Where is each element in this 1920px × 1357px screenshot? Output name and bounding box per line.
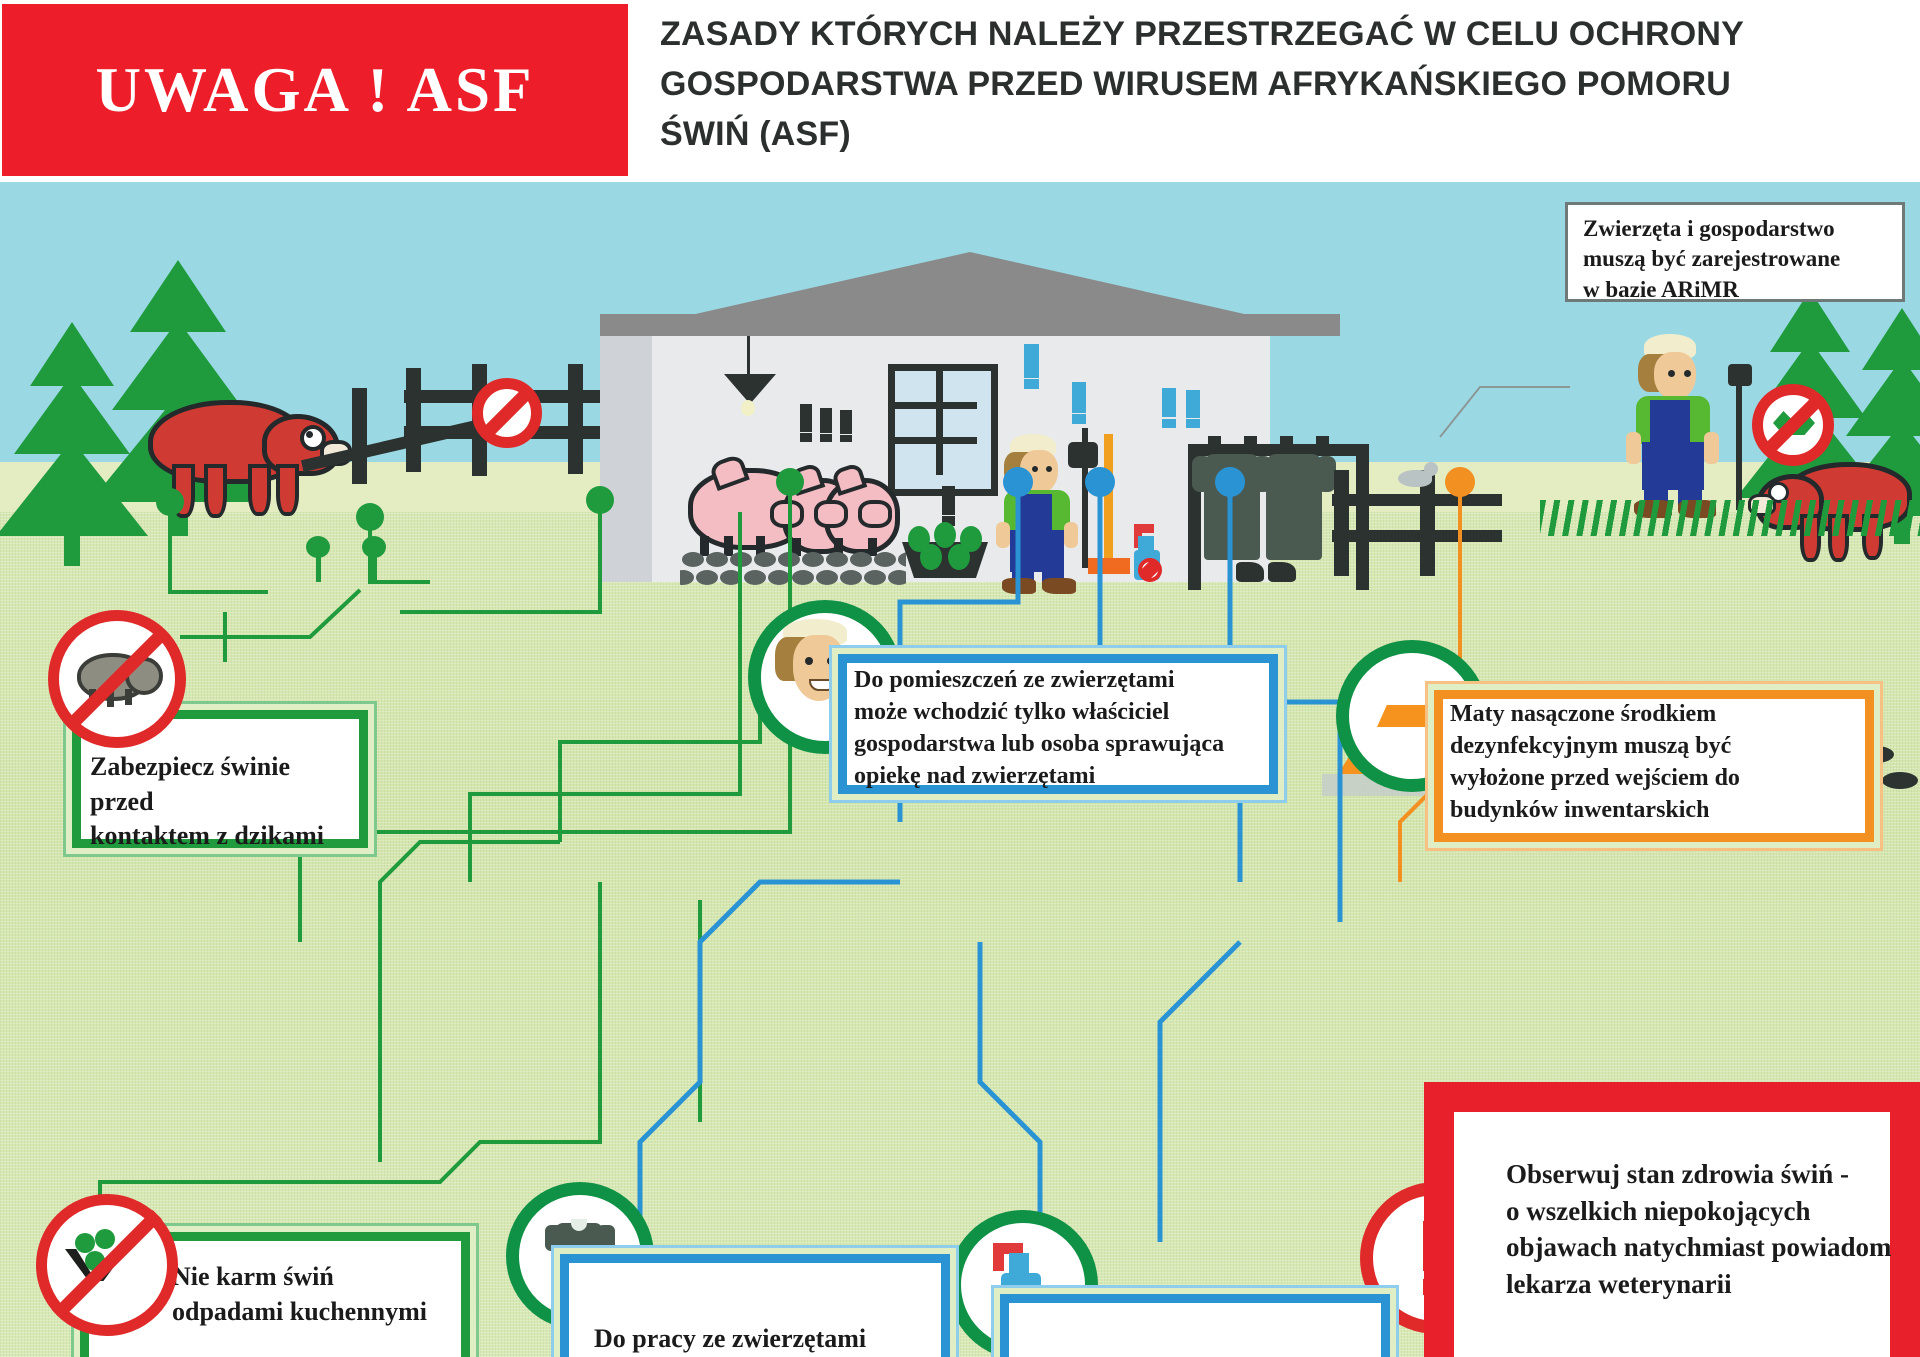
callout-line: kontaktem z dzikami <box>90 819 356 854</box>
callout-text: Zwierzęta i gospodarstwo muszą być zarej… <box>1583 214 1895 305</box>
callout-line: objawach natychmiast powiadom <box>1506 1229 1900 1266</box>
callout-text: Zabezpiecz świnie przed kontaktem z dzik… <box>90 750 356 854</box>
callout-line: Obserwuj stan zdrowia świń - <box>1506 1156 1900 1193</box>
title-banner: UWAGA ! ASF <box>2 4 628 176</box>
subtitle-line-3: ŚWIŃ (ASF) <box>660 110 1890 160</box>
callout-line: odpadami kuchennymi <box>172 1295 458 1330</box>
callout-line: Zwierzęta i gospodarstwo <box>1583 214 1895 244</box>
callout-line: może wchodzić tylko właściciel <box>854 696 1270 728</box>
callout-text: Nie karm świń odpadami kuchennymi <box>172 1260 458 1329</box>
poster-subtitle: ZASADY KTÓRYCH NALEŻY PRZESTRZEGAĆ W CEL… <box>660 10 1890 160</box>
callout-line: Do pomieszczeń ze zwierzętami <box>854 664 1270 696</box>
callout-line: gospodarstwa lub osoba sprawująca <box>854 728 1270 760</box>
callout-text: Do pomieszczeń ze zwierzętami może wchod… <box>854 664 1270 793</box>
callout-line: opiekę nad zwierzętami <box>854 760 1270 792</box>
callout-line: Maty nasączone środkiem <box>1450 698 1866 730</box>
poster-scene: Zwierzęta i gospodarstwo muszą być zarej… <box>0 182 1920 1357</box>
poster-header: UWAGA ! ASF ZASADY KTÓRYCH NALEŻY PRZEST… <box>0 0 1920 182</box>
banner-title: UWAGA ! ASF <box>95 54 534 127</box>
callout-frame <box>1000 1294 1390 1357</box>
subtitle-line-1: ZASADY KTÓRYCH NALEŻY PRZESTRZEGAĆ W CEL… <box>660 10 1890 60</box>
asf-biosecurity-poster: UWAGA ! ASF ZASADY KTÓRYCH NALEŻY PRZEST… <box>0 0 1920 1357</box>
callout-separate-clothing: Do pracy ze zwierzętami używaj oddzielne… <box>560 1254 950 1357</box>
callout-line: dezynfekcyjnym muszą być <box>1450 730 1866 762</box>
callout-text: Maty nasączone środkiem dezynfekcyjnym m… <box>1450 698 1866 827</box>
callout-observe-pig-health: Obserwuj stan zdrowia świń - o wszelkich… <box>1424 1082 1920 1357</box>
callout-line: wyłożone przed wejściem do <box>1450 762 1866 794</box>
callout-line: w bazie ARiMR <box>1583 275 1895 305</box>
callout-line: o wszelkich niepokojących <box>1506 1193 1900 1230</box>
no-food-waste-icon <box>36 1194 178 1336</box>
callout-cleanliness-and-disinfection: Pamiętaj o utrzymywaniu pomieszczeń w cz… <box>1000 1294 1390 1357</box>
callout-owner-only-access: Do pomieszczeń ze zwierzętami może wchod… <box>838 654 1278 794</box>
callout-line: Nie karm świń <box>172 1260 458 1295</box>
callout-line: lekarza weterynarii <box>1506 1266 1900 1303</box>
callout-disinfection-mats: Maty nasączone środkiem dezynfekcyjnym m… <box>1434 690 1874 842</box>
subtitle-line-2: GOSPODARSTWA PRZED WIRUSEM AFRYKAŃSKIEGO… <box>660 60 1890 110</box>
callout-line: Do pracy ze zwierzętami <box>594 1322 938 1357</box>
callout-line: Zabezpiecz świnie przed <box>90 750 356 819</box>
callout-text: Obserwuj stan zdrowia świń - o wszelkich… <box>1506 1156 1900 1303</box>
no-wild-boar-icon <box>48 610 186 748</box>
callout-line: budynków inwentarskich <box>1450 794 1866 826</box>
callout-text: Do pracy ze zwierzętami używaj oddzielne… <box>594 1322 938 1357</box>
callout-line: muszą być zarejestrowane <box>1583 244 1895 274</box>
callout-arimr-registration: Zwierzęta i gospodarstwo muszą być zarej… <box>1565 202 1905 302</box>
